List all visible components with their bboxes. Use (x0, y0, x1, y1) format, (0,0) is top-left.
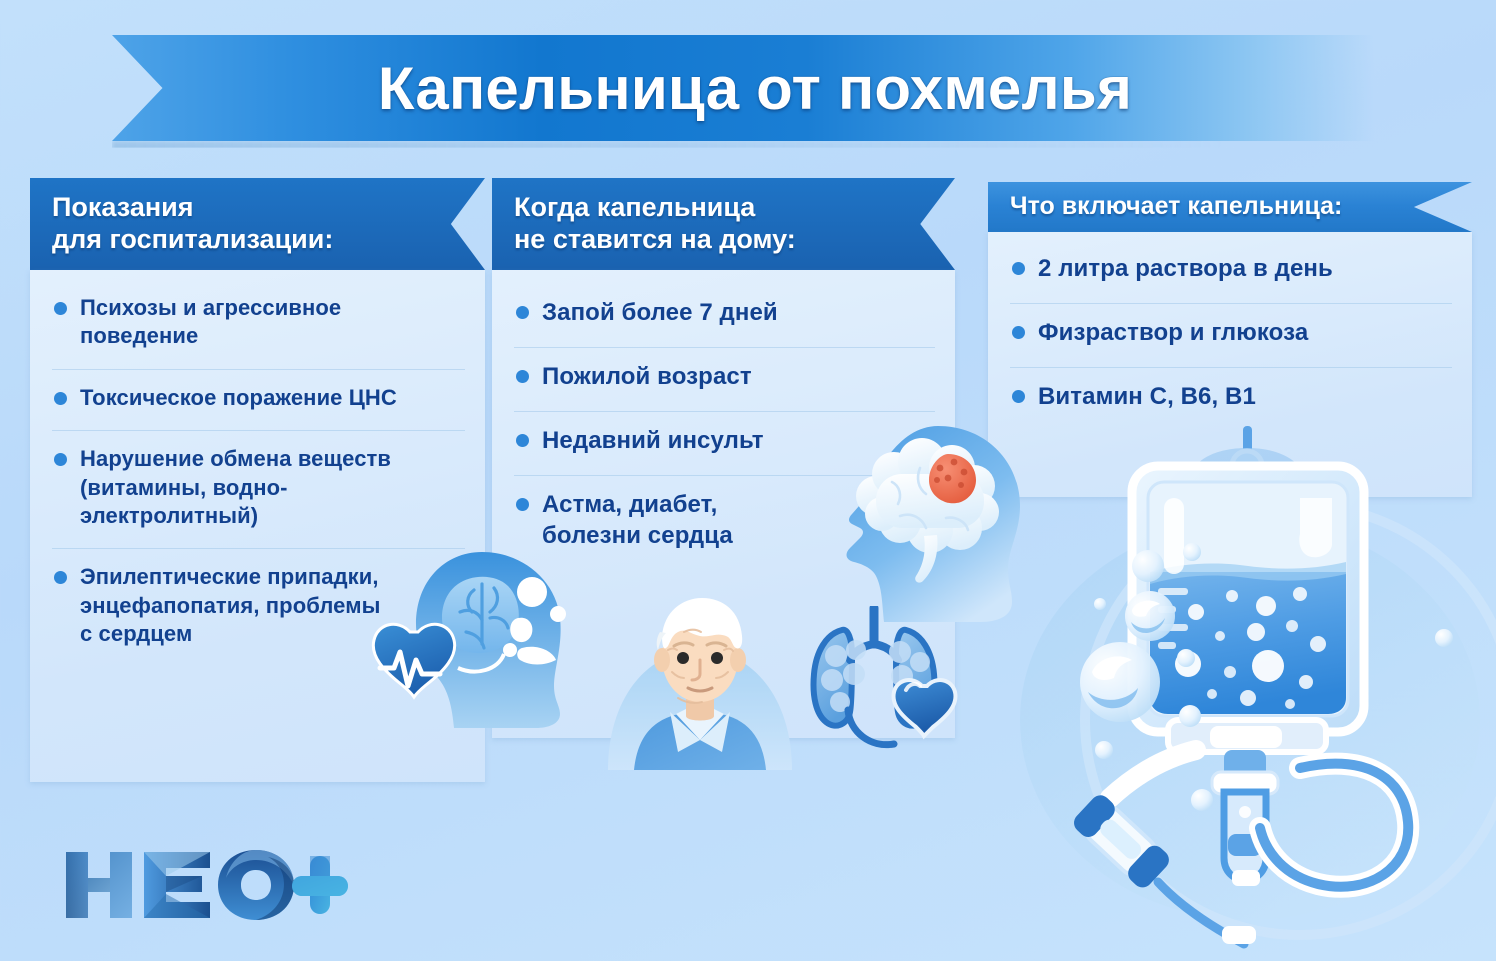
bullet-dot-icon (54, 302, 67, 315)
elderly-man-avatar (600, 588, 800, 770)
iv-drip-bag-illustration (1000, 420, 1496, 961)
list-item[interactable]: Запой более 7 дней (514, 298, 935, 348)
card-header-title: Когда капельница не ставится на дому: (514, 192, 796, 256)
bullet-dot-icon (516, 370, 529, 383)
list-item-label: Витамин С, В6, В1 (1038, 382, 1256, 413)
list-item-label: Запой более 7 дней (542, 298, 778, 329)
list-item-label: 2 литра раствора в день (1038, 254, 1333, 285)
list-item[interactable]: 2 литра раствора в день (1010, 254, 1452, 304)
title-ribbon-shadow (112, 141, 1322, 153)
list-item-label: Эпилептические припадки, энцефапопатия, … (80, 563, 381, 648)
list-item-label: Психозы и агрессивное поведение (80, 294, 341, 351)
bullet-dot-icon (54, 453, 67, 466)
list-item[interactable]: Токсическое поражение ЦНС (52, 384, 465, 431)
bullet-dot-icon (516, 498, 529, 511)
list-item[interactable]: Психозы и агрессивное поведение (52, 294, 465, 370)
bullet-dot-icon (1012, 326, 1025, 339)
neo-plus-logo (62, 838, 352, 930)
stroke-head-icon (788, 418, 1028, 628)
list-item-label: Нарушение обмена веществ (витамины, водн… (80, 445, 465, 530)
list-item-label: Недавний инсульт (542, 426, 764, 457)
lungs-heart-icon (790, 606, 970, 766)
bullet-dot-icon (1012, 262, 1025, 275)
list-item[interactable]: Физраствор и глюкоза (1010, 318, 1452, 368)
bullet-dot-icon (54, 392, 67, 405)
card-header-no-home-drip: Когда капельница не ставится на дому: (492, 178, 955, 270)
card-header-indications: Показания для госпитализации: (30, 178, 485, 270)
list-item-label: Токсическое поражение ЦНС (80, 384, 397, 412)
list-item[interactable]: Пожилой возраст (514, 362, 935, 412)
list-item-label: Физраствор и глюкоза (1038, 318, 1308, 349)
bullet-dot-icon (516, 434, 529, 447)
bullet-dot-icon (54, 571, 67, 584)
card-header-drip-contents: Что включает капельница: (988, 182, 1472, 232)
page-title: Капельница от похмелья (378, 54, 1132, 123)
card-header-title: Что включает капельница: (1010, 192, 1342, 222)
bullet-dot-icon (516, 306, 529, 319)
list-item-label: Пожилой возраст (542, 362, 752, 393)
bullet-dot-icon (1012, 390, 1025, 403)
list-item[interactable]: Нарушение обмена веществ (витамины, водн… (52, 445, 465, 549)
brain-heart-ecg-head-icon (362, 540, 592, 730)
title-ribbon: Капельница от похмелья (112, 35, 1374, 141)
card-header-title: Показания для госпитализации: (52, 192, 333, 256)
